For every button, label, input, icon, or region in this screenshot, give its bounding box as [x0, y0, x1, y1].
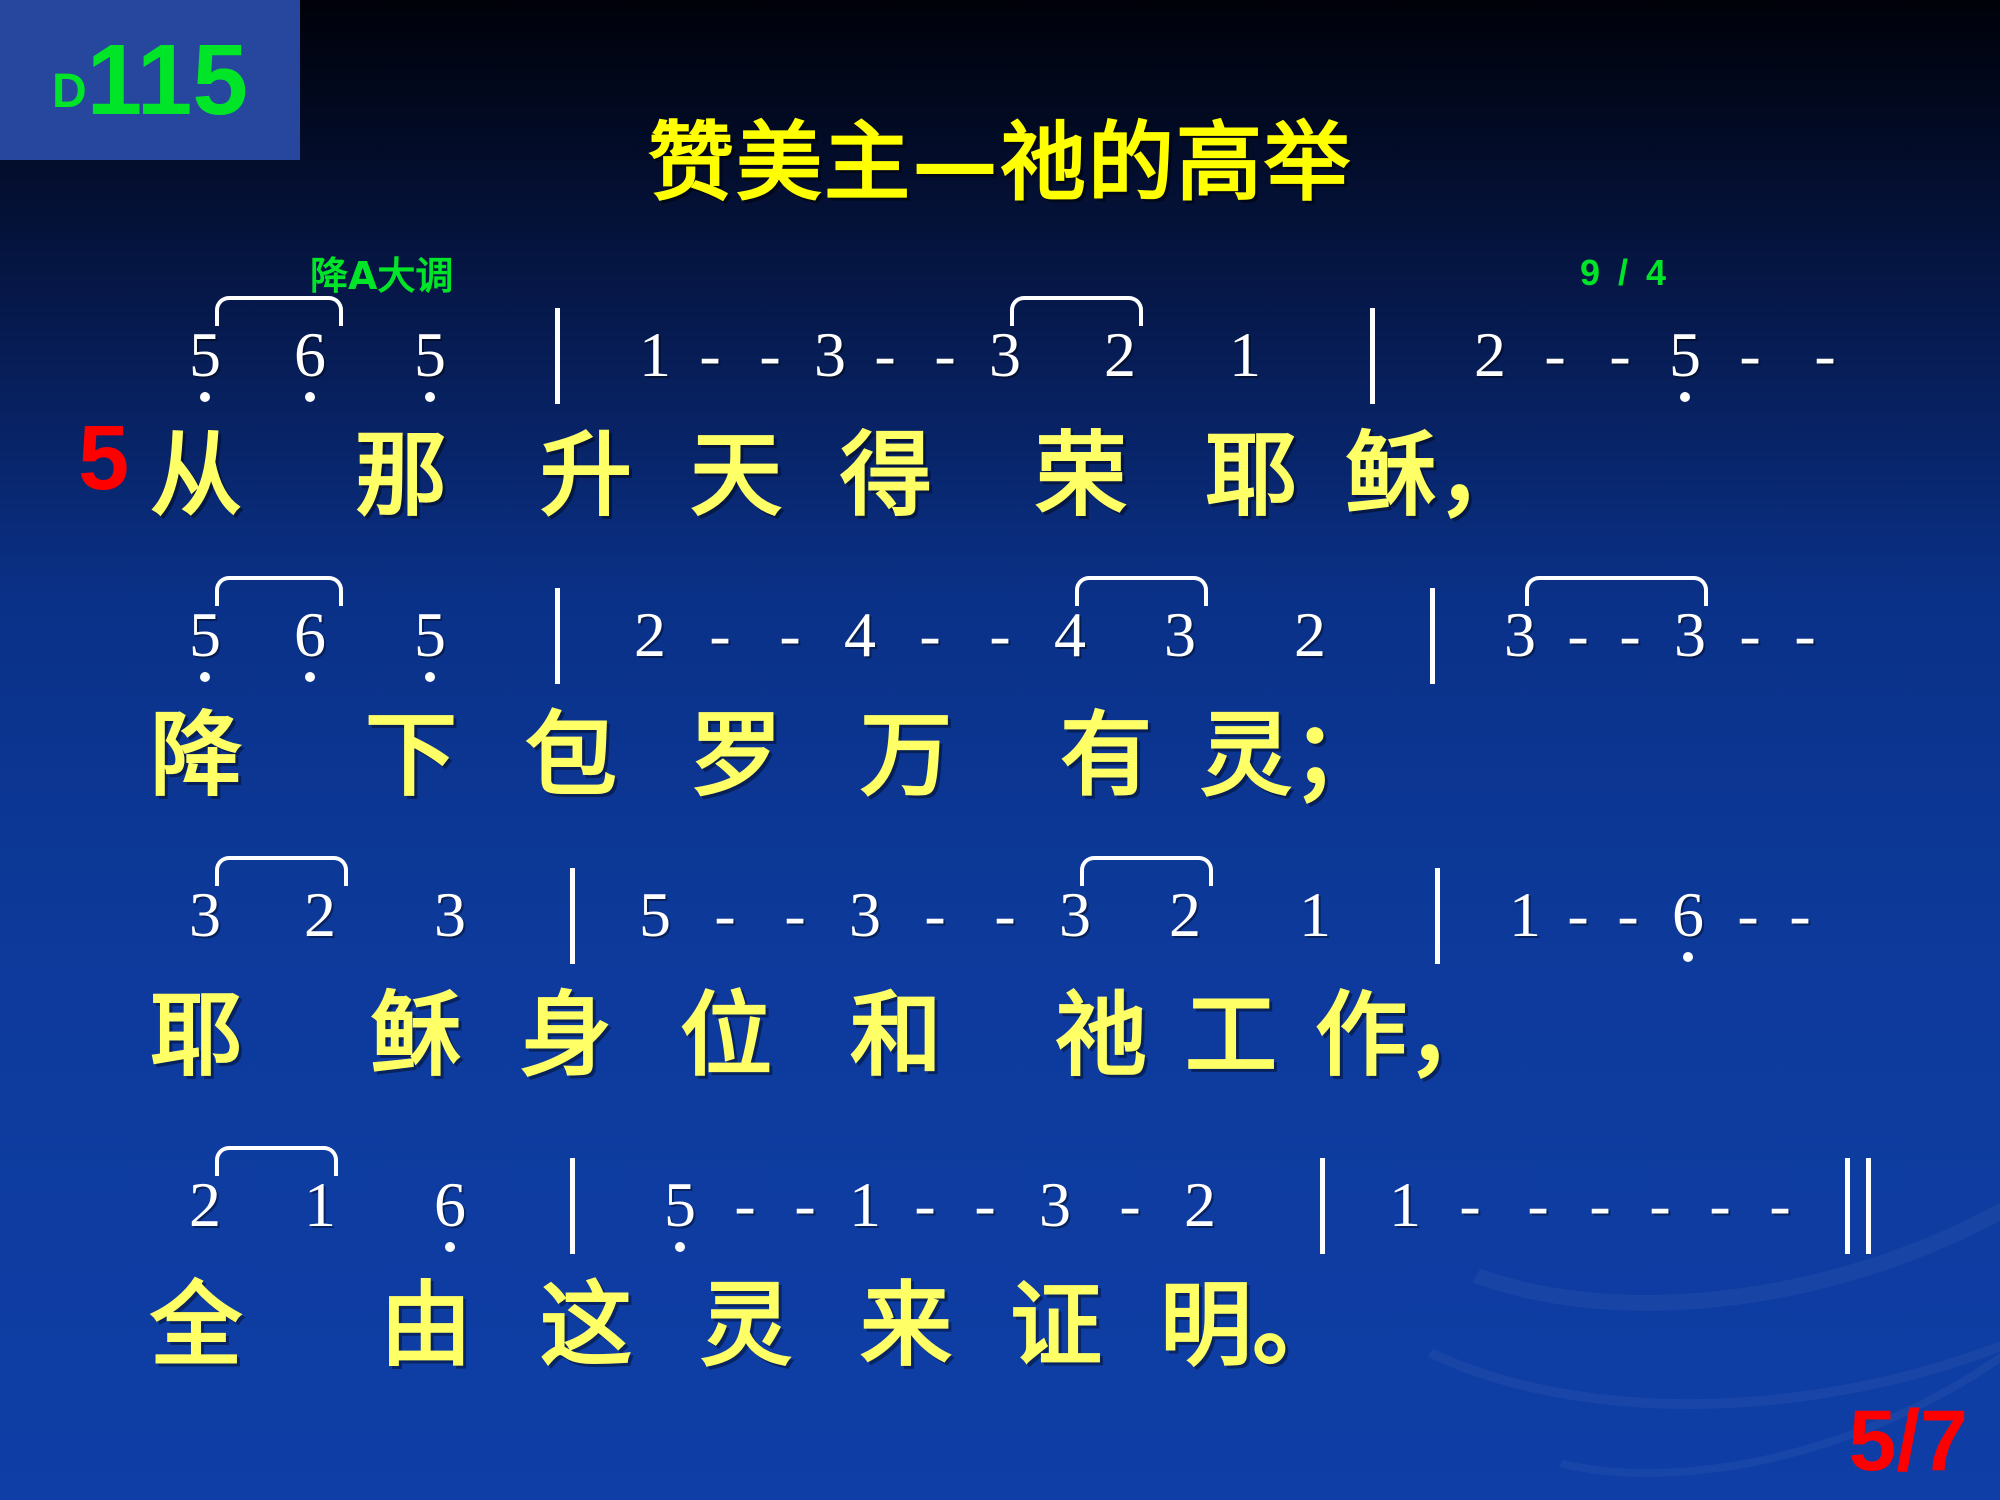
lyric-character: 灵；	[1200, 690, 1384, 820]
notation-row: 2165--1--3-21------	[0, 1150, 2000, 1260]
lyric-character: 由	[380, 1260, 472, 1390]
note-sustain-dash: -	[748, 300, 792, 410]
lyric-character: 来	[860, 1260, 952, 1390]
note-sustain-dash: -	[863, 300, 907, 410]
page-title: 赞美主—祂的高举	[0, 92, 2000, 217]
note-sustain-dash: -	[1533, 300, 1577, 410]
lyric-character: 万	[860, 690, 952, 820]
lyrics-row: 从那升天得荣耶稣，	[0, 410, 2000, 540]
notation-row: 3235--3--3211--6--	[0, 860, 2000, 970]
note-number: 3	[808, 300, 852, 410]
note-sustain-dash: -	[1556, 860, 1600, 970]
note-sustain-dash: -	[1108, 1150, 1152, 1260]
staff-system-4: 2165--1--3-21------ 全由这灵来证明。	[0, 1150, 2000, 1390]
slur-arc	[215, 856, 348, 886]
note-number: 1	[843, 1150, 887, 1260]
slur-arc	[215, 576, 343, 606]
note-sustain-dash: -	[1448, 1150, 1492, 1260]
double-barline	[1845, 1158, 1871, 1254]
staff-system-2: 5652--4--4323--3-- 降下包罗万有灵；	[0, 580, 2000, 820]
note-sustain-dash: -	[1726, 860, 1770, 970]
note-number: 6	[1666, 860, 1710, 970]
lyric-character: 下	[365, 690, 457, 820]
note-sustain-dash: -	[768, 580, 812, 690]
note-number: 1	[633, 300, 677, 410]
lyric-character: 有	[1060, 690, 1152, 820]
note-sustain-dash: -	[1698, 1150, 1742, 1260]
note-number: 4	[838, 580, 882, 690]
note-sustain-dash: -	[1598, 300, 1642, 410]
note-number: 1	[1293, 860, 1337, 970]
note-number: 5	[408, 580, 452, 690]
note-sustain-dash: -	[1728, 580, 1772, 690]
note-number: 5	[1663, 300, 1707, 410]
lyrics-row: 降下包罗万有灵；	[0, 690, 2000, 820]
note-sustain-dash: -	[1606, 860, 1650, 970]
note-sustain-dash: -	[983, 860, 1027, 970]
note-number: 3	[428, 860, 472, 970]
lyric-character: 灵	[700, 1260, 792, 1390]
lyric-character: 天	[690, 410, 782, 540]
lyric-character: 升	[540, 410, 632, 540]
lyric-character: 和	[850, 970, 942, 1100]
slur-arc	[1525, 576, 1708, 606]
time-signature-label: 9 / 4	[1580, 252, 1670, 294]
barline	[1435, 868, 1440, 964]
barline	[1430, 588, 1435, 684]
lyric-character: 从	[150, 410, 242, 540]
slur-arc	[215, 296, 343, 326]
notation-row: 5652--4--4323--3--	[0, 580, 2000, 690]
lyric-character: 耶	[1205, 410, 1297, 540]
lyric-character: 包	[525, 690, 617, 820]
note-sustain-dash: -	[703, 860, 747, 970]
note-sustain-dash: -	[1783, 580, 1827, 690]
slur-arc	[1075, 576, 1208, 606]
slur-arc	[1010, 296, 1143, 326]
note-number: 3	[1033, 1150, 1077, 1260]
note-sustain-dash: -	[978, 580, 1022, 690]
lyric-character: 这	[540, 1260, 632, 1390]
lyric-character: 工	[1185, 970, 1277, 1100]
notation-row: 5651--3--3212--5--	[0, 300, 2000, 410]
note-number: 2	[1178, 1150, 1222, 1260]
hymn-slide: D 115 赞美主—祂的高举 降A大调 9 / 4 5 5651--3--321…	[0, 0, 2000, 1500]
lyric-character: 得	[840, 410, 932, 540]
note-sustain-dash: -	[698, 580, 742, 690]
lyric-character: 证	[1010, 1260, 1102, 1390]
note-sustain-dash: -	[773, 860, 817, 970]
key-signature-label: 降A大调	[310, 245, 453, 300]
lyric-character: 荣	[1035, 410, 1127, 540]
note-sustain-dash: -	[783, 1150, 827, 1260]
note-number: 5	[408, 300, 452, 410]
note-sustain-dash: -	[908, 580, 952, 690]
lyric-character: 那	[355, 410, 447, 540]
lyric-character: 身	[520, 970, 612, 1100]
note-number: 1	[1223, 300, 1267, 410]
note-number: 5	[633, 860, 677, 970]
lyric-character: 位	[680, 970, 772, 1100]
note-sustain-dash: -	[1728, 300, 1772, 410]
page-indicator: 5/7	[1848, 1398, 1968, 1484]
lyric-character: 罗	[690, 690, 782, 820]
barline	[570, 1158, 575, 1254]
lyric-character: 稣	[370, 970, 462, 1100]
lyric-character: 降	[150, 690, 242, 820]
note-sustain-dash: -	[1578, 1150, 1622, 1260]
staff-system-1: 5651--3--3212--5-- 从那升天得荣耶稣，	[0, 300, 2000, 540]
note-number: 6	[428, 1150, 472, 1260]
note-number: 2	[1288, 580, 1332, 690]
slur-arc	[1080, 856, 1213, 886]
lyric-character: 作，	[1315, 970, 1499, 1100]
note-sustain-dash: -	[1778, 860, 1822, 970]
barline	[555, 308, 560, 404]
lyrics-row: 耶稣身位和祂工作，	[0, 970, 2000, 1100]
barline	[555, 588, 560, 684]
note-sustain-dash: -	[688, 300, 732, 410]
note-number: 2	[628, 580, 672, 690]
note-sustain-dash: -	[923, 300, 967, 410]
note-sustain-dash: -	[1638, 1150, 1682, 1260]
note-number: 1	[1503, 860, 1547, 970]
note-sustain-dash: -	[903, 1150, 947, 1260]
note-sustain-dash: -	[723, 1150, 767, 1260]
note-number: 3	[843, 860, 887, 970]
staff-system-3: 3235--3--3211--6-- 耶稣身位和祂工作，	[0, 860, 2000, 1100]
lyric-character: 祂	[1055, 970, 1147, 1100]
lyric-character: 全	[150, 1260, 242, 1390]
lyric-character: 明。	[1160, 1260, 1344, 1390]
barline	[1370, 308, 1375, 404]
slur-arc	[215, 1146, 338, 1176]
lyrics-row: 全由这灵来证明。	[0, 1260, 2000, 1390]
lyric-character: 耶	[150, 970, 242, 1100]
barline	[1320, 1158, 1325, 1254]
note-sustain-dash: -	[963, 1150, 1007, 1260]
lyric-character: 稣，	[1345, 410, 1529, 540]
note-number: 5	[658, 1150, 702, 1260]
note-sustain-dash: -	[1803, 300, 1847, 410]
barline	[570, 868, 575, 964]
note-sustain-dash: -	[1516, 1150, 1560, 1260]
note-sustain-dash: -	[1758, 1150, 1802, 1260]
note-number: 1	[1383, 1150, 1427, 1260]
note-sustain-dash: -	[913, 860, 957, 970]
note-number: 2	[1468, 300, 1512, 410]
